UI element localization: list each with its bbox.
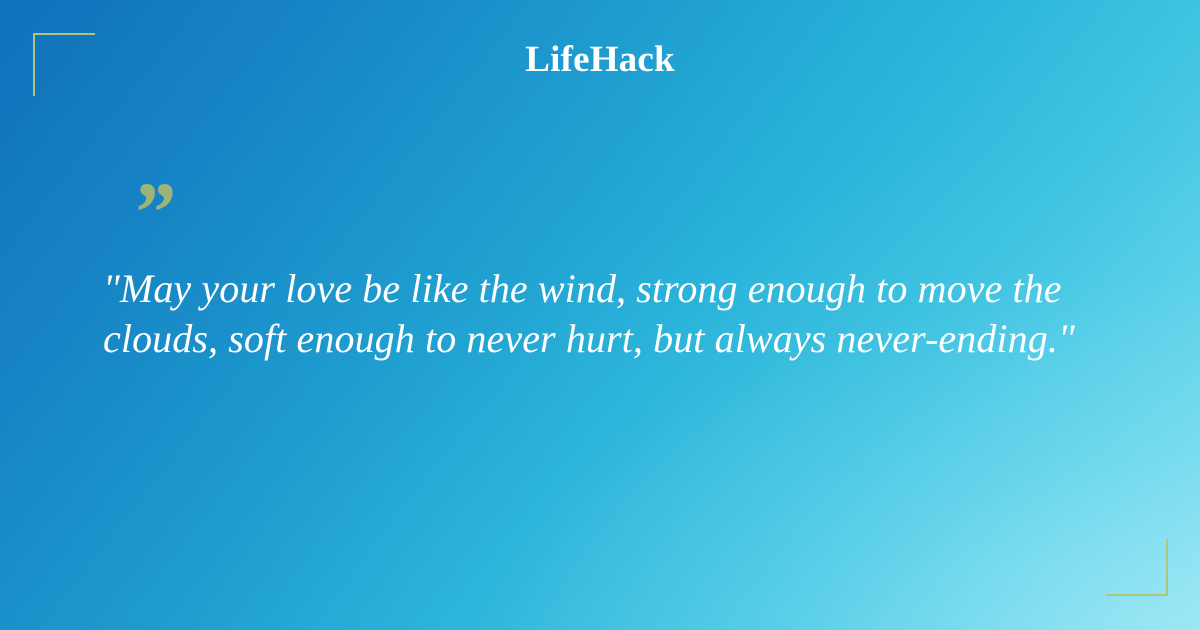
corner-bracket-bottom-right-horizontal [1106,594,1168,596]
brand-logo: LifeHack [0,41,1200,80]
quote-card: LifeHack ” "May your love be like the wi… [0,0,1200,630]
quote-block: ” "May your love be like the wind, stron… [103,186,1103,364]
brand-logo-text: LifeHack [525,41,675,80]
quotation-mark-icon: ” [131,186,1103,242]
quote-text: "May your love be like the wind, strong … [103,264,1093,364]
corner-bracket-top-left-horizontal [33,33,95,35]
corner-bracket-bottom-right-vertical [1166,539,1168,596]
corner-bracket-bottom-right-icon [1106,539,1168,596]
